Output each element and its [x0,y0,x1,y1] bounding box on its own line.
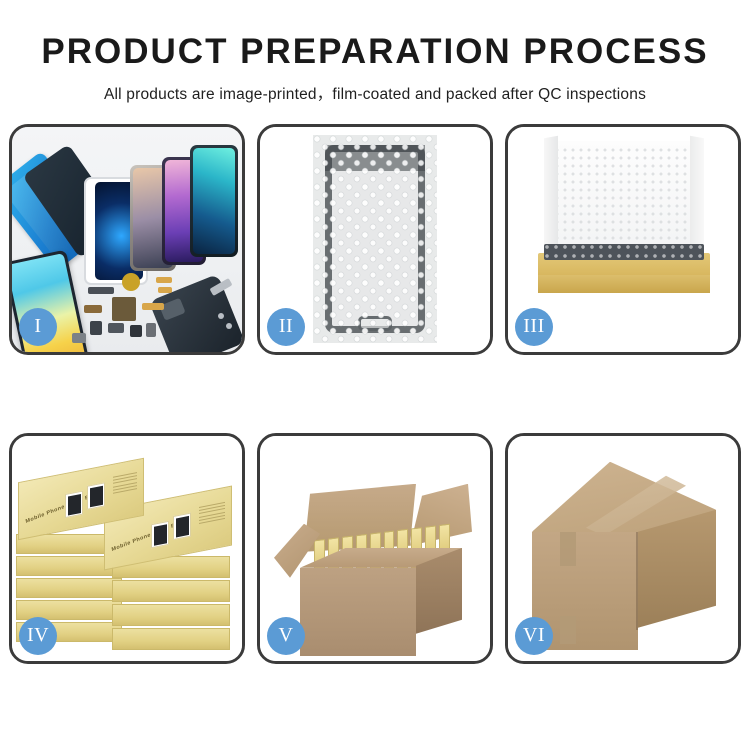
stacked-box-r4 [112,604,230,626]
part-screw-a [218,313,224,319]
part-connector-strip [88,287,114,294]
part-camera-module [84,305,102,313]
step-badge-iii: III [515,308,553,346]
step-badge-i: I [19,308,57,346]
teal-phone [190,145,238,257]
bubble-texture [313,135,437,343]
part-flex-cable-a [156,277,172,283]
packing-tape-front-upper [560,532,576,566]
part-flex-cable-b [158,287,172,293]
part-small-bracket [72,333,86,343]
stacked-box-l3 [16,578,122,598]
kraft-box-base [538,253,710,293]
part-vibrator [130,325,142,337]
step-panel-v[interactable]: V [257,433,493,664]
page-title: PRODUCT PREPARATION PROCESS [0,34,750,71]
lid-phone-image-c [65,490,83,517]
part-sim-tray [146,323,156,337]
bubble-wrap-sheet [313,135,437,343]
step-panel-vi[interactable]: VI [505,433,741,664]
part-ribbon-cable [142,303,164,310]
stacked-box-r3 [112,580,230,602]
process-steps-grid: I II III [4,124,746,664]
packing-tape-front-lower [560,616,576,644]
lid-phone-image-b [173,512,191,539]
page-subtitle: All products are image-printed，film-coat… [0,82,750,104]
step-badge-vi: VI [515,617,553,655]
step-panel-iii[interactable]: III [505,124,741,355]
step-badge-iv: IV [19,617,57,655]
step-badge-ii: II [267,308,305,346]
part-screw-b [226,323,232,329]
carton-front-face [300,568,416,656]
product-preparation-infographic: PRODUCT PREPARATION PROCESS All products… [0,0,750,750]
step-panel-iv[interactable]: Mobile Phone Spare Parts Mobile Phone Sp… [9,433,245,664]
lid-spec-lines-front [199,502,225,526]
lid-phone-image-d [87,482,105,509]
sealed-carton-edge [636,532,638,630]
part-battery-connector [108,323,124,333]
step-panel-i[interactable]: I [9,124,245,355]
stacked-box-r5 [112,628,230,650]
step-panel-ii[interactable]: II [257,124,493,355]
lid-spec-lines-back [113,472,137,496]
part-wireless-coil [122,273,140,291]
part-logic-chip [112,297,136,321]
lid-phone-image-a [151,521,169,548]
step-badge-v: V [267,617,305,655]
part-speaker [90,321,102,335]
header: PRODUCT PREPARATION PROCESS All products… [0,0,750,104]
